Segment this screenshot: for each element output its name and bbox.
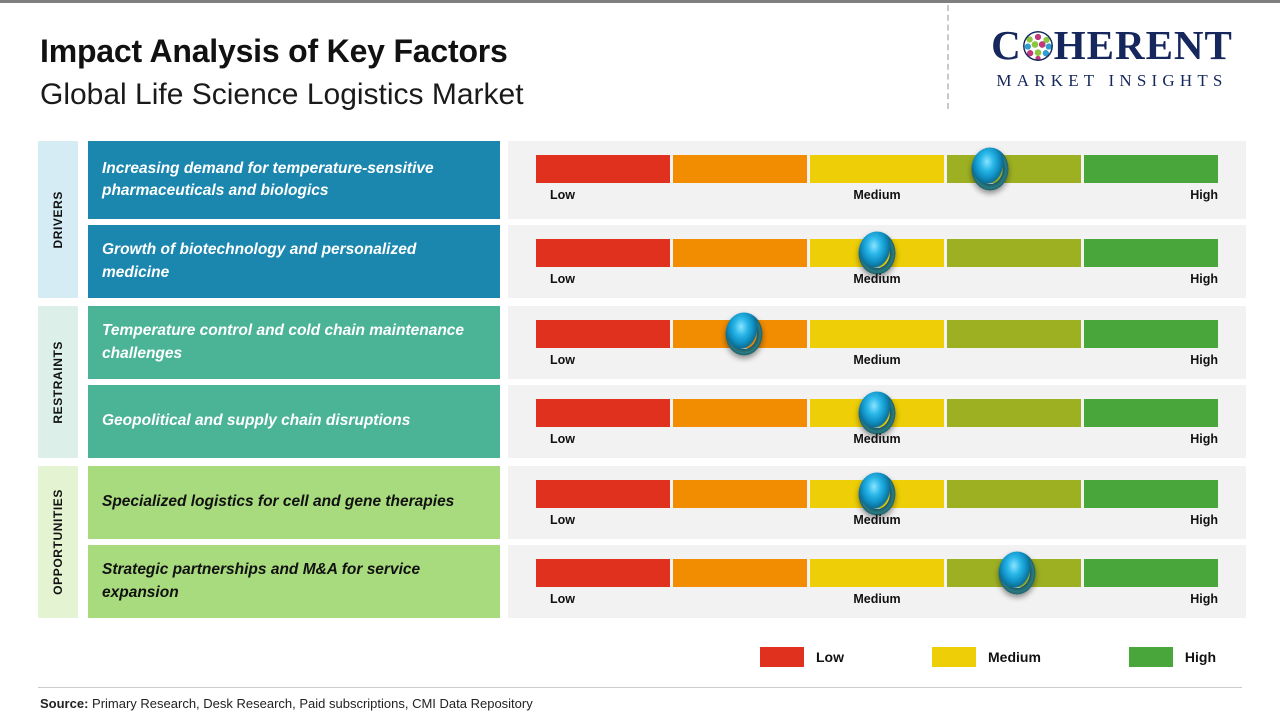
gauge-segment-low-mid (673, 399, 807, 427)
source-label: Source: (40, 696, 88, 711)
gauge-label-high: High (1190, 188, 1218, 202)
gauge-segment-mid-high (947, 480, 1081, 508)
factor-box: Temperature control and cold chain maint… (88, 306, 500, 379)
legend-swatch-medium (932, 647, 976, 667)
gauge-segment-mid-high (947, 320, 1081, 348)
legend-item-high: High (1129, 647, 1216, 667)
gauge-scale-labels: Low Medium High (536, 432, 1218, 456)
gauge-segment-mid-high (947, 559, 1081, 587)
category-rows-restraints: Temperature control and cold chain maint… (78, 306, 1246, 458)
category-rows-drivers: Increasing demand for temperature-sensit… (78, 141, 1246, 298)
gauge-segment-low-mid (673, 239, 807, 267)
header-divider (947, 5, 949, 109)
gauge-label-high: High (1190, 353, 1218, 367)
gauge-track (536, 239, 1218, 267)
gauge-segment-medium (810, 559, 944, 587)
factor-label: Geopolitical and supply chain disruption… (102, 410, 410, 432)
globe-icon (1023, 31, 1053, 61)
footer-divider (38, 687, 1242, 688)
gauge-segment-medium (810, 239, 944, 267)
gauge-label-low: Low (550, 188, 575, 202)
category-label-drivers: DRIVERS (38, 141, 78, 298)
gauge-segment-low (536, 239, 670, 267)
legend-label-low: Low (816, 649, 844, 665)
gauge-segment-high (1084, 480, 1218, 508)
gauge-label-medium: Medium (853, 272, 900, 286)
gauge-label-low: Low (550, 272, 575, 286)
legend: Low Medium High (760, 647, 1216, 667)
gauge-segment-high (1084, 239, 1218, 267)
factor-box: Increasing demand for temperature-sensit… (88, 141, 500, 219)
gauge-label-high: High (1190, 513, 1218, 527)
gauge-label-high: High (1190, 592, 1218, 606)
impact-gauge: Low Medium High (508, 466, 1246, 539)
factor-label: Growth of biotechnology and personalized… (102, 239, 486, 283)
logo-wordmark: C HERENT (962, 25, 1262, 66)
category-group-opportunities: OPPORTUNITIES Specialized logistics for … (38, 466, 1246, 618)
gauge-label-low: Low (550, 432, 575, 446)
gauge-segment-mid-high (947, 239, 1081, 267)
impact-gauge: Low Medium High (508, 545, 1246, 618)
source-text: Primary Research, Desk Research, Paid su… (88, 696, 532, 711)
category-label-opportunities: OPPORTUNITIES (38, 466, 78, 618)
gauge-scale-labels: Low Medium High (536, 592, 1218, 616)
category-label-restraints-text: RESTRAINTS (51, 341, 65, 424)
header: Impact Analysis of Key Factors Global Li… (0, 3, 1280, 135)
gauge-segment-high (1084, 320, 1218, 348)
gauge-label-medium: Medium (853, 513, 900, 527)
page-title: Impact Analysis of Key Factors (40, 33, 524, 71)
category-label-drivers-text: DRIVERS (51, 191, 65, 249)
legend-label-medium: Medium (988, 649, 1041, 665)
gauge-segment-low (536, 559, 670, 587)
gauge-segment-high (1084, 559, 1218, 587)
factor-box: Specialized logistics for cell and gene … (88, 466, 500, 539)
impact-matrix: DRIVERS Increasing demand for temperatur… (38, 141, 1246, 618)
factor-label: Strategic partnerships and M&A for servi… (102, 559, 486, 603)
gauge-label-high: High (1190, 272, 1218, 286)
gauge-segment-mid-high (947, 399, 1081, 427)
category-group-restraints: RESTRAINTS Temperature control and cold … (38, 306, 1246, 458)
gauge-segment-high (1084, 155, 1218, 183)
factor-box: Geopolitical and supply chain disruption… (88, 385, 500, 458)
gauge-scale-labels: Low Medium High (536, 513, 1218, 537)
title-block: Impact Analysis of Key Factors Global Li… (40, 33, 524, 113)
gauge-label-medium: Medium (853, 353, 900, 367)
source-note: Source: Primary Research, Desk Research,… (40, 696, 533, 711)
impact-gauge: Low Medium High (508, 225, 1246, 298)
gauge-segment-low (536, 155, 670, 183)
impact-gauge: Low Medium High (508, 385, 1246, 458)
gauge-scale-labels: Low Medium High (536, 353, 1218, 377)
logo-tagline: MARKET INSIGHTS (962, 71, 1262, 91)
impact-gauge: Low Medium High (508, 141, 1246, 219)
factor-label: Specialized logistics for cell and gene … (102, 491, 454, 513)
gauge-label-medium: Medium (853, 188, 900, 202)
table-row: Specialized logistics for cell and gene … (78, 466, 1246, 539)
impact-gauge: Low Medium High (508, 306, 1246, 379)
legend-swatch-high (1129, 647, 1173, 667)
gauge-segment-low-mid (673, 480, 807, 508)
gauge-segment-low (536, 320, 670, 348)
gauge-scale-labels: Low Medium High (536, 272, 1218, 296)
table-row: Strategic partnerships and M&A for servi… (78, 545, 1246, 618)
gauge-segment-medium (810, 399, 944, 427)
legend-label-high: High (1185, 649, 1216, 665)
table-row: Increasing demand for temperature-sensit… (78, 141, 1246, 219)
factor-box: Growth of biotechnology and personalized… (88, 225, 500, 298)
gauge-label-medium: Medium (853, 432, 900, 446)
gauge-segment-low-mid (673, 320, 807, 348)
logo-text-c: C (991, 25, 1022, 66)
factor-label: Temperature control and cold chain maint… (102, 320, 486, 364)
slide-root: Impact Analysis of Key Factors Global Li… (0, 0, 1280, 720)
category-rows-opportunities: Specialized logistics for cell and gene … (78, 466, 1246, 618)
gauge-segment-low (536, 399, 670, 427)
gauge-label-low: Low (550, 592, 575, 606)
table-row: Geopolitical and supply chain disruption… (78, 385, 1246, 458)
gauge-track (536, 559, 1218, 587)
gauge-track (536, 155, 1218, 183)
legend-item-medium: Medium (932, 647, 1041, 667)
legend-swatch-low (760, 647, 804, 667)
gauge-label-medium: Medium (853, 592, 900, 606)
factor-label: Increasing demand for temperature-sensit… (102, 158, 486, 202)
gauge-segment-high (1084, 399, 1218, 427)
category-label-opportunities-text: OPPORTUNITIES (51, 489, 65, 595)
gauge-segment-medium (810, 480, 944, 508)
gauge-segment-mid-high (947, 155, 1081, 183)
table-row: Temperature control and cold chain maint… (78, 306, 1246, 379)
gauge-segment-low-mid (673, 559, 807, 587)
page-subtitle: Global Life Science Logistics Market (40, 77, 524, 113)
gauge-track (536, 399, 1218, 427)
logo-text-herent: HERENT (1054, 25, 1233, 66)
gauge-scale-labels: Low Medium High (536, 188, 1218, 212)
category-group-drivers: DRIVERS Increasing demand for temperatur… (38, 141, 1246, 298)
legend-item-low: Low (760, 647, 844, 667)
gauge-label-low: Low (550, 513, 575, 527)
gauge-label-high: High (1190, 432, 1218, 446)
logo: C HERENT MARKET INSIGHTS (962, 25, 1262, 91)
table-row: Growth of biotechnology and personalized… (78, 225, 1246, 298)
gauge-track (536, 320, 1218, 348)
gauge-segment-low-mid (673, 155, 807, 183)
gauge-segment-medium (810, 155, 944, 183)
category-label-restraints: RESTRAINTS (38, 306, 78, 458)
factor-box: Strategic partnerships and M&A for servi… (88, 545, 500, 618)
gauge-segment-low (536, 480, 670, 508)
gauge-track (536, 480, 1218, 508)
gauge-label-low: Low (550, 353, 575, 367)
gauge-segment-medium (810, 320, 944, 348)
